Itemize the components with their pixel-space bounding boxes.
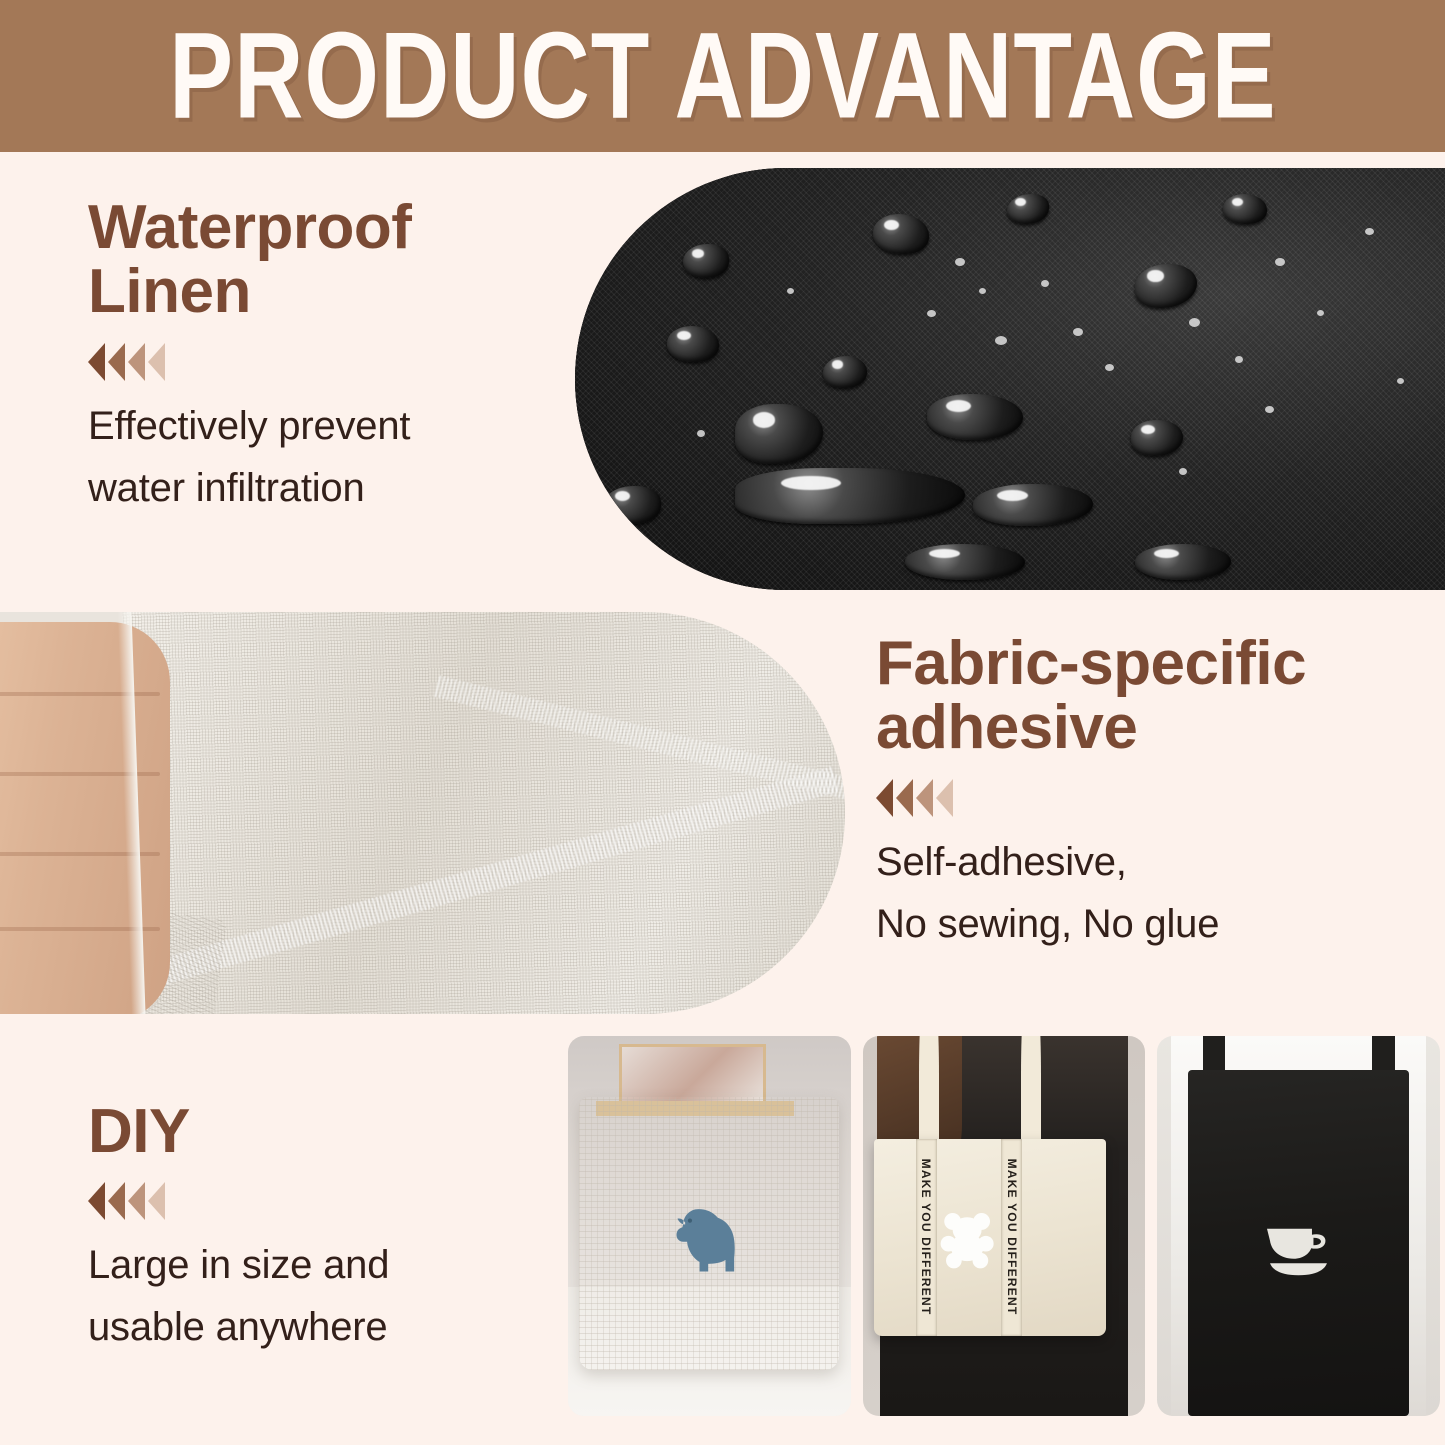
tote-bag-object: MAKE YOU DIFFERENT MAKE YOU DIFFERENT (874, 1139, 1106, 1337)
tote-handle (1021, 1036, 1041, 1142)
hand-holding-fabric (0, 622, 170, 1014)
water-mist-speck (787, 288, 794, 294)
water-mist-speck (1235, 356, 1243, 363)
water-droplet (927, 394, 1023, 440)
feature-heading-adhesive: Fabric-specific adhesive (876, 632, 1416, 761)
tote-strap-text: MAKE YOU DIFFERENT (919, 1159, 933, 1316)
page-title: PRODUCT ADVANTAGE (169, 20, 1277, 132)
water-mist-speck (1275, 258, 1285, 266)
chevron-left-icon (148, 343, 165, 381)
water-mist-speck (1179, 468, 1187, 475)
apron-object (1188, 1070, 1408, 1416)
tote-strap-text: MAKE YOU DIFFERENT (1005, 1159, 1019, 1316)
water-mist-speck (1397, 378, 1404, 384)
water-mist-speck (927, 310, 936, 317)
dog-silhouette-icon (664, 1180, 760, 1302)
chevron-divider-waterproof (88, 343, 558, 381)
gallery-photo-pillow (568, 1036, 851, 1416)
feature-diy: DIY Large in size and usable anywhere (88, 1100, 558, 1358)
water-mist-speck (1189, 318, 1200, 327)
feature-body-diy: Large in size and usable anywhere (88, 1234, 558, 1358)
feature-body-waterproof: Effectively prevent water infiltration (88, 395, 558, 519)
feature-body-adhesive: Self-adhesive, No sewing, No glue (876, 831, 1416, 955)
water-droplet (823, 356, 867, 388)
chevron-left-icon (128, 1182, 145, 1220)
chevron-left-icon (128, 343, 145, 381)
chevron-left-icon (876, 779, 893, 817)
fabric-weave-texture (575, 168, 1445, 590)
water-mist-speck (1073, 328, 1083, 336)
water-mist-speck (1041, 280, 1049, 287)
water-droplet (603, 486, 661, 524)
feature-body-line: Self-adhesive, (876, 831, 1416, 893)
chevron-left-icon (108, 343, 125, 381)
feature-adhesive: Fabric-specific adhesive Self-adhesive, … (876, 632, 1416, 955)
water-droplet (1135, 544, 1231, 580)
chevron-left-icon (108, 1182, 125, 1220)
feature-body-line: usable anywhere (88, 1296, 558, 1358)
water-mist-speck (1317, 310, 1324, 316)
feature-body-line: No sewing, No glue (876, 893, 1416, 955)
chevron-left-icon (88, 1182, 105, 1220)
feature-heading-waterproof: Waterproof Linen (88, 196, 558, 325)
chevron-left-icon (88, 343, 105, 381)
chevron-left-icon (896, 779, 913, 817)
header-banner: PRODUCT ADVANTAGE (0, 0, 1445, 152)
feature-body-line: water infiltration (88, 457, 558, 519)
water-mist-speck (955, 258, 965, 266)
feature-waterproof: Waterproof Linen Effectively prevent wat… (88, 196, 558, 519)
wall-art-decor (619, 1044, 766, 1105)
water-droplet (667, 326, 719, 362)
feature-body-line: Effectively prevent (88, 395, 558, 457)
tote-strap-band: MAKE YOU DIFFERENT (916, 1139, 937, 1337)
chevron-left-icon (148, 1182, 165, 1220)
water-mist-speck (1105, 364, 1114, 371)
waterproof-fabric-photo (575, 168, 1445, 590)
chevron-left-icon (936, 779, 953, 817)
teacup-silhouette-icon (1261, 1209, 1336, 1292)
tote-strap-band: MAKE YOU DIFFERENT (1001, 1139, 1022, 1337)
usage-gallery: MAKE YOU DIFFERENT MAKE YOU DIFFERENT (568, 1036, 1440, 1416)
gallery-photo-tote: MAKE YOU DIFFERENT MAKE YOU DIFFERENT (863, 1036, 1146, 1416)
water-mist-speck (979, 288, 986, 294)
feature-heading-diy: DIY (88, 1100, 558, 1164)
chevron-divider-adhesive (876, 779, 1416, 817)
chevron-divider-diy (88, 1182, 558, 1220)
bear-silhouette-icon (937, 1198, 997, 1281)
water-droplet (683, 244, 729, 278)
water-mist-speck (1365, 228, 1374, 235)
water-droplet (1223, 194, 1267, 224)
gallery-photo-apron (1157, 1036, 1440, 1416)
water-droplet (905, 544, 1025, 580)
chevron-left-icon (916, 779, 933, 817)
water-mist-speck (697, 430, 705, 437)
linen-fabric-photo (0, 612, 845, 1014)
water-droplet (873, 214, 929, 254)
product-advantage-infographic: PRODUCT ADVANTAGE (0, 0, 1445, 1445)
water-mist-speck (1265, 406, 1274, 413)
tote-handle (919, 1036, 939, 1142)
feature-body-line: Large in size and (88, 1234, 558, 1296)
water-mist-speck (995, 336, 1007, 345)
